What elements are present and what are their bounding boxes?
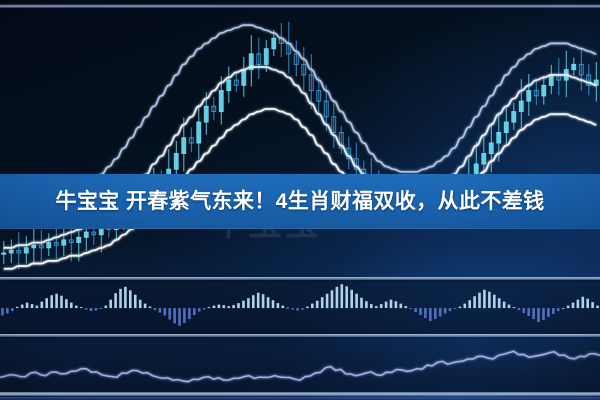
price-panel [0,6,600,278]
macd-chart-svg [0,280,600,334]
headline-band: 牛宝宝 开春紫气东来！4生肖财福双收，从此不差钱 [0,174,600,229]
macd-histogram-series [1,284,599,326]
headline-title: 牛宝宝 开春紫气东来！4生肖财福双收，从此不差钱 [55,191,544,212]
chart-screenshot: 牛宝宝 牛宝宝 开春紫气东来！4生肖财福双收，从此不差钱 [0,0,600,400]
candlestick-series [2,22,598,269]
price-chart-svg [0,6,600,278]
panel-separator-middle [0,334,600,337]
oscillator-chart-svg [0,338,600,394]
oscillator-line [0,351,600,381]
macd-panel [0,280,600,334]
oscillator-panel [0,338,600,394]
